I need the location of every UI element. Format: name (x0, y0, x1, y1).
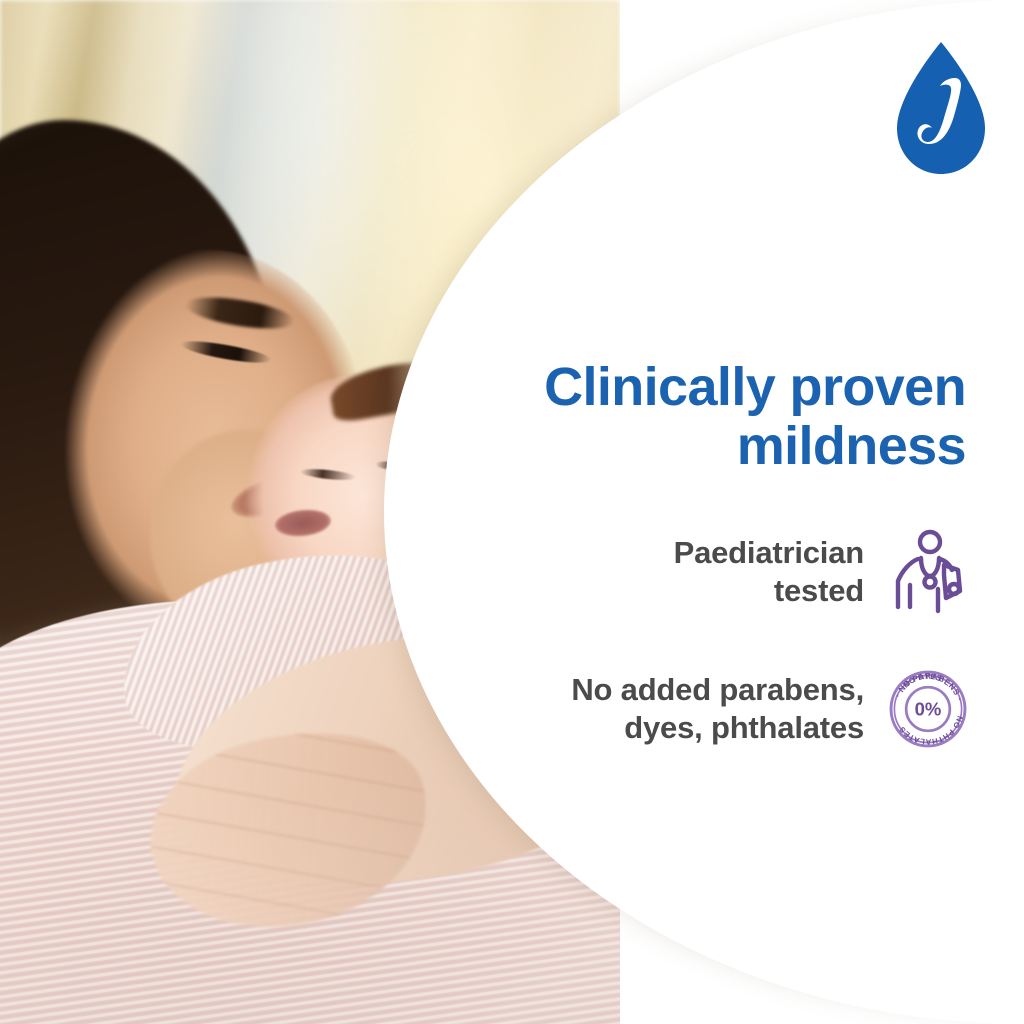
badge-center-value: 0% (915, 699, 942, 720)
headline-line-2: mildness (470, 417, 966, 476)
page-title: Clinically proven mildness (470, 358, 966, 477)
claim-label: No added parabens, dyes, phthalates (571, 671, 864, 747)
zero-percent-badge-icon: · NO PARABENS · NO PHTHALATES NO DYES 0% (886, 665, 970, 753)
claim-no-added-parabens: No added parabens, dyes, phthalates · NO… (474, 665, 970, 753)
claim-label: Paediatrician tested (674, 534, 864, 610)
paediatrician-stethoscope-icon (886, 528, 970, 616)
advertisement-creative: Clinically proven mildness Paediatrician… (0, 0, 1024, 1024)
headline-line-1: Clinically proven (470, 358, 966, 417)
claim-paediatrician-tested: Paediatrician tested (474, 528, 970, 616)
content-column: Clinically proven mildness Paediatrician… (470, 0, 970, 1024)
